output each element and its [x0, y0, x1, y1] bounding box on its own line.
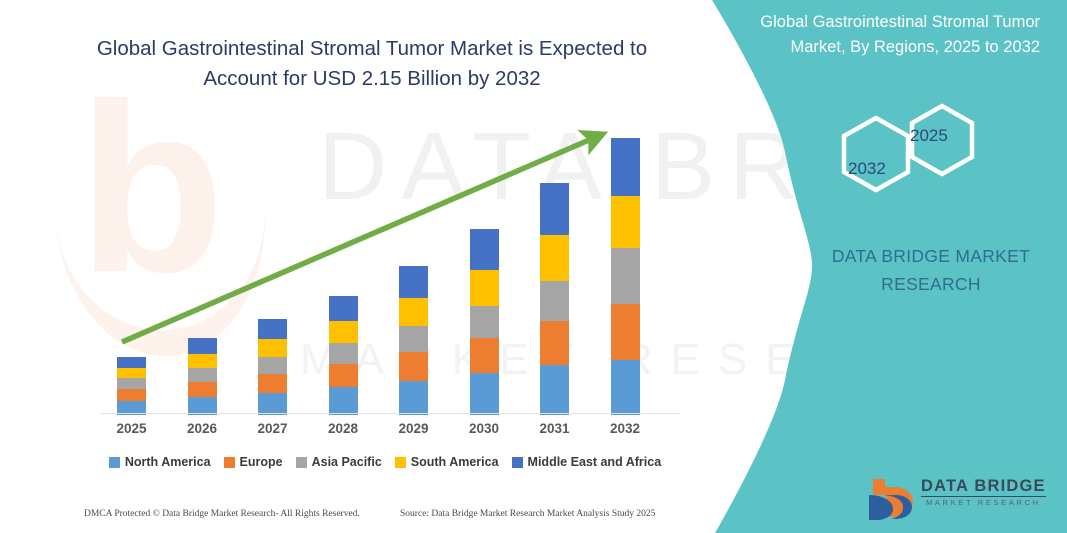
legend-swatch-icon — [395, 457, 406, 468]
x-axis-label-2028: 2028 — [313, 421, 373, 436]
x-axis-label-2025: 2025 — [102, 421, 162, 436]
legend-swatch-icon — [296, 457, 307, 468]
footer-source: Source: Data Bridge Market Research Mark… — [400, 509, 655, 519]
growth-arrow — [100, 110, 680, 415]
legend-label: Asia Pacific — [312, 455, 382, 469]
legend-swatch-icon — [512, 457, 523, 468]
infographic-slide: b DATA BRIDGE MARKET RESEARCH Global Gas… — [0, 0, 1067, 533]
footer-copyright: DMCA Protected © Data Bridge Market Rese… — [84, 509, 360, 519]
x-axis-labels: 20252026202720282029203020312032 — [100, 421, 680, 443]
x-axis-label-2026: 2026 — [172, 421, 232, 436]
legend-label: Middle East and Africa — [528, 455, 662, 469]
databridge-logo: DATA BRIDGE MARKET RESEARCH — [865, 475, 1055, 523]
legend-item-asia-pacific[interactable]: Asia Pacific — [296, 455, 382, 469]
legend-swatch-icon — [109, 457, 120, 468]
hexagon-group: 2032 2025 — [820, 100, 1020, 220]
x-axis-label-2030: 2030 — [454, 421, 514, 436]
logo-tagline: MARKET RESEARCH — [921, 498, 1046, 507]
x-axis-label-2029: 2029 — [384, 421, 444, 436]
panel-brand-line1: DATA BRIDGE MARKET — [832, 246, 1030, 266]
legend-item-north-america[interactable]: North America — [109, 455, 211, 469]
x-axis-label-2031: 2031 — [525, 421, 585, 436]
logo-name: DATA BRIDGE — [921, 477, 1046, 497]
legend-label: South America — [411, 455, 499, 469]
panel-brand: DATA BRIDGE MARKET RESEARCH — [800, 242, 1062, 298]
hexagon-label-2025: 2025 — [910, 126, 948, 146]
legend-label: Europe — [240, 455, 283, 469]
legend-item-south-america[interactable]: South America — [395, 455, 499, 469]
legend-item-europe[interactable]: Europe — [224, 455, 283, 469]
logo-text-block: DATA BRIDGE MARKET RESEARCH — [921, 477, 1046, 507]
x-axis-label-2027: 2027 — [243, 421, 303, 436]
databridge-b-mark-icon — [865, 475, 917, 521]
footer: DMCA Protected © Data Bridge Market Rese… — [0, 506, 700, 528]
legend-label: North America — [125, 455, 211, 469]
chart-legend: North AmericaEuropeAsia PacificSouth Ame… — [95, 455, 675, 469]
hexagon-2032-shape — [844, 118, 908, 190]
x-axis-label-2032: 2032 — [595, 421, 655, 436]
hexagon-label-2032: 2032 — [848, 159, 886, 179]
panel-title: Global Gastrointestinal Stromal Tumor Ma… — [760, 10, 1040, 60]
page-title: Global Gastrointestinal Stromal Tumor Ma… — [72, 34, 672, 94]
legend-item-middle-east-and-africa[interactable]: Middle East and Africa — [512, 455, 662, 469]
legend-swatch-icon — [224, 457, 235, 468]
panel-brand-line2: RESEARCH — [881, 274, 981, 294]
